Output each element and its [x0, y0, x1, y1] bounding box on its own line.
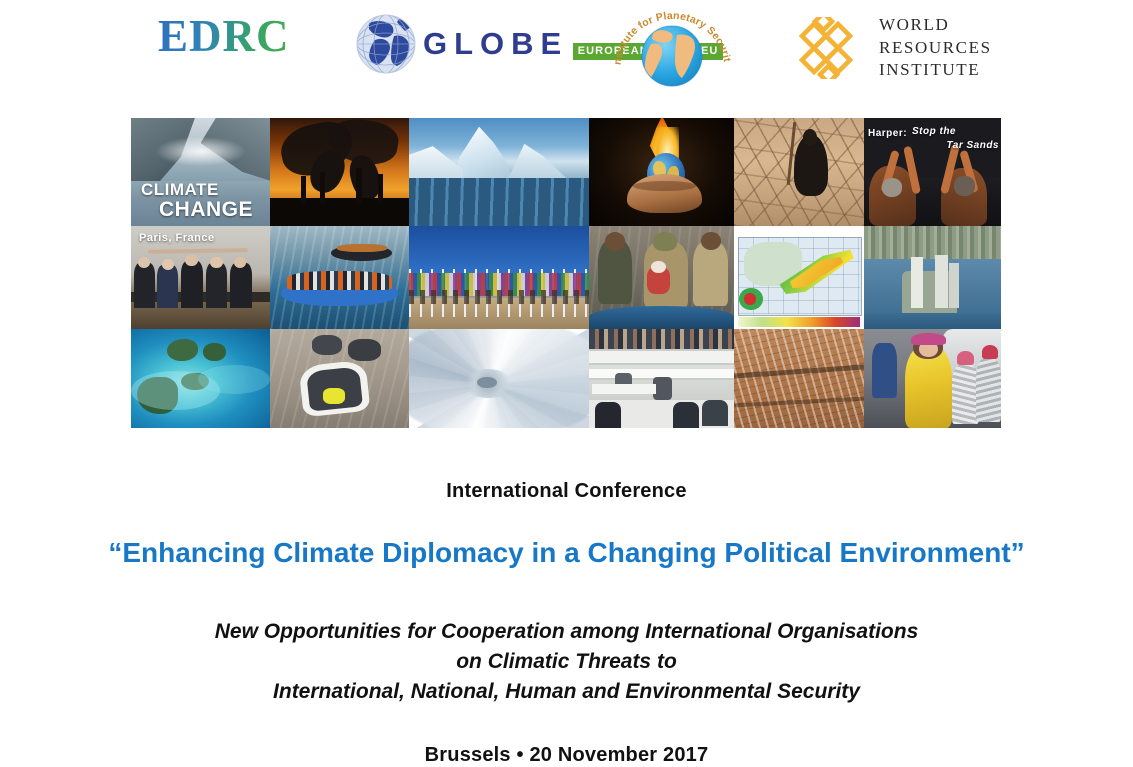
- collage-cell-tropical-island: [131, 329, 270, 428]
- collage-caption-climate: CLIMATE: [141, 180, 219, 200]
- conference-subtitle-line-3: International, National, Human and Envir…: [0, 677, 1133, 707]
- logo-institute-planetary-security: Institute for Planetary Security: [605, 4, 740, 88]
- conference-subtitle-line-1: New Opportunities for Cooperation among …: [0, 617, 1133, 647]
- collage-cell-international-flags: [409, 226, 589, 329]
- collage-cell-refugees-blankets: [864, 329, 1001, 428]
- wri-line-2: RESOURCES: [879, 37, 992, 60]
- wri-line-3: INSTITUTE: [879, 59, 992, 82]
- conference-subtitle-line-2: on Climatic Threats to: [0, 647, 1133, 677]
- collage-cell-military-flood-rescue: [589, 226, 734, 329]
- conference-kicker: International Conference: [0, 480, 1133, 503]
- collage-cell-waterfront-city: [864, 226, 1001, 329]
- collage-cell-migrant-boats: [270, 226, 409, 329]
- collage-cell-iceberg: [409, 118, 589, 226]
- logo-edrc: EDRC: [158, 14, 290, 59]
- collage-caption-change: CHANGE: [159, 198, 253, 222]
- conference-subtitle: New Opportunities for Cooperation among …: [0, 617, 1133, 706]
- logo-globe-word: GLOBE: [423, 26, 568, 61]
- wri-knot-icon: [795, 17, 857, 79]
- planetary-security-globe-icon: Institute for Planetary Security: [605, 4, 740, 88]
- collage-cell-fjord-climate-change: CLIMATE CHANGE: [131, 118, 270, 226]
- logo-edrc-text: EDRC: [158, 14, 290, 59]
- wri-wordmark: WORLD RESOURCES INSTITUTE: [879, 14, 992, 82]
- collage-cell-conference-hall: [589, 329, 734, 428]
- logo-bar: EDRC: [0, 0, 1133, 92]
- wri-line-1: WORLD: [879, 14, 992, 37]
- collage-caption-stop-the: Stop the: [912, 126, 956, 137]
- conference-text-block: International Conference “Enhancing Clim…: [0, 455, 1133, 767]
- logo-world-resources-institute: WORLD RESOURCES INSTITUTE: [795, 14, 992, 82]
- collage-cell-burning-globe: [589, 118, 734, 226]
- collage-cell-drought: [734, 118, 864, 226]
- collage-caption-paris-france: Paris, France: [139, 232, 215, 244]
- collage-cell-flood-rescue-boats: [270, 329, 409, 428]
- collage-cell-refugee-camp: [734, 329, 864, 428]
- photo-collage: CLIMATE CHANGE: [131, 118, 1001, 428]
- collage-caption-tar-sands: Tar Sands: [947, 140, 999, 151]
- collage-caption-harper: Harper:: [868, 128, 907, 139]
- collage-cell-paris-agreement: Paris, France: [131, 226, 270, 329]
- collage-cell-tar-sands-protest: Harper: Stop the Tar Sands: [864, 118, 1001, 226]
- conference-poster-page: EDRC: [0, 0, 1133, 764]
- collage-cell-hurricane-forecast-map: [734, 226, 864, 329]
- globe-icon: [355, 13, 417, 75]
- collage-cell-hurricane-satellite: [409, 329, 589, 428]
- collage-cell-smokestacks-sunset: [270, 118, 409, 226]
- conference-title: “Enhancing Climate Diplomacy in a Changi…: [0, 537, 1133, 569]
